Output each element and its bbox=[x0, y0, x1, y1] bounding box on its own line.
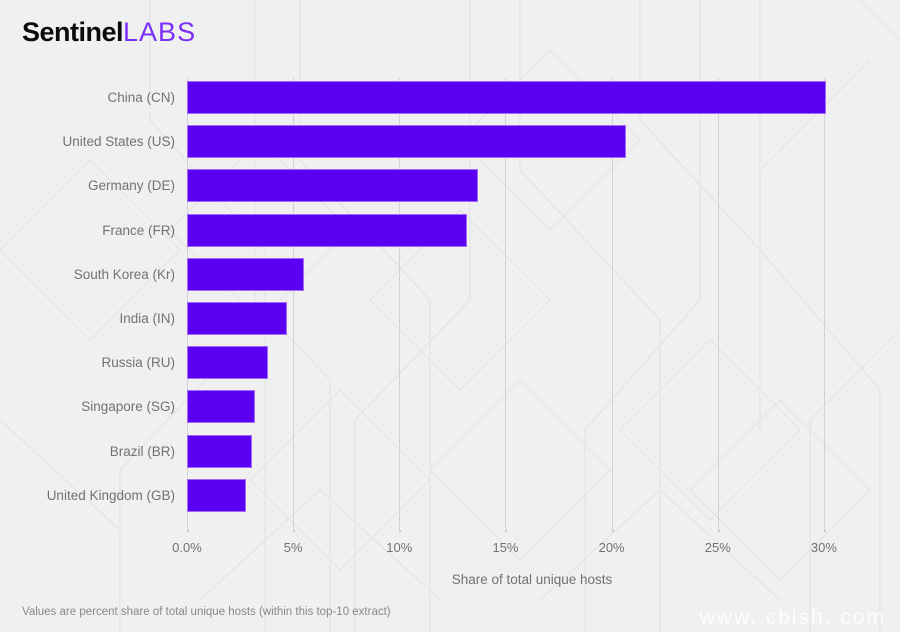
bar[interactable] bbox=[187, 302, 287, 335]
bar[interactable] bbox=[187, 435, 252, 468]
x-tick-label: 30% bbox=[811, 540, 837, 555]
logo-labs-text: LABS bbox=[123, 17, 196, 48]
bar-row[interactable] bbox=[187, 169, 478, 202]
gridline bbox=[718, 78, 719, 530]
x-tick-label: 20% bbox=[599, 540, 625, 555]
plot-area: China (CN)United States (US)Germany (DE)… bbox=[187, 78, 877, 530]
logo-sentinel-text: Sentinel bbox=[22, 17, 123, 48]
bar-row[interactable] bbox=[187, 81, 826, 114]
x-tick-label: 10% bbox=[386, 540, 412, 555]
bar-row[interactable] bbox=[187, 479, 246, 512]
x-tick-label: 0.0% bbox=[172, 540, 202, 555]
bar-row[interactable] bbox=[187, 390, 255, 423]
sentinel-labs-logo: SentinelLABS bbox=[22, 17, 196, 48]
bar[interactable] bbox=[187, 214, 467, 247]
category-label: Russia (RU) bbox=[0, 346, 175, 379]
x-axis-title: Share of total unique hosts bbox=[187, 572, 877, 587]
bar-row[interactable] bbox=[187, 125, 626, 158]
x-tick-mark bbox=[612, 530, 614, 532]
bar-row[interactable] bbox=[187, 435, 252, 468]
category-label: Brazil (BR) bbox=[0, 435, 175, 468]
x-tick-label: 25% bbox=[705, 540, 731, 555]
category-label: Singapore (SG) bbox=[0, 390, 175, 423]
x-tick-mark bbox=[718, 530, 720, 532]
category-label: India (IN) bbox=[0, 302, 175, 335]
chart-page: SentinelLABS China (CN)United States (US… bbox=[0, 0, 900, 632]
bar-row[interactable] bbox=[187, 346, 268, 379]
category-label: China (CN) bbox=[0, 81, 175, 114]
x-tick-mark bbox=[293, 530, 295, 532]
bar-row[interactable] bbox=[187, 214, 467, 247]
bar[interactable] bbox=[187, 258, 304, 291]
bar[interactable] bbox=[187, 125, 626, 158]
x-tick-mark bbox=[505, 530, 507, 532]
x-axis: 0.0%5%10%15%20%25%30% bbox=[187, 530, 877, 570]
bar[interactable] bbox=[187, 390, 255, 423]
bar-row[interactable] bbox=[187, 302, 287, 335]
category-label: South Korea (Kr) bbox=[0, 258, 175, 291]
x-tick-mark bbox=[399, 530, 401, 532]
category-label: France (FR) bbox=[0, 214, 175, 247]
category-label: United Kingdom (GB) bbox=[0, 479, 175, 512]
chart-footnote: Values are percent share of total unique… bbox=[22, 606, 391, 618]
x-tick-mark bbox=[187, 530, 189, 532]
site-watermark: www. cbish. com bbox=[700, 606, 886, 630]
bar[interactable] bbox=[187, 81, 826, 114]
x-tick-label: 15% bbox=[492, 540, 518, 555]
bar[interactable] bbox=[187, 169, 478, 202]
bar[interactable] bbox=[187, 346, 268, 379]
x-tick-mark bbox=[824, 530, 826, 532]
bar[interactable] bbox=[187, 479, 246, 512]
gridline bbox=[824, 78, 825, 530]
bar-row[interactable] bbox=[187, 258, 304, 291]
category-label: United States (US) bbox=[0, 125, 175, 158]
x-tick-label: 5% bbox=[284, 540, 303, 555]
category-label: Germany (DE) bbox=[0, 169, 175, 202]
